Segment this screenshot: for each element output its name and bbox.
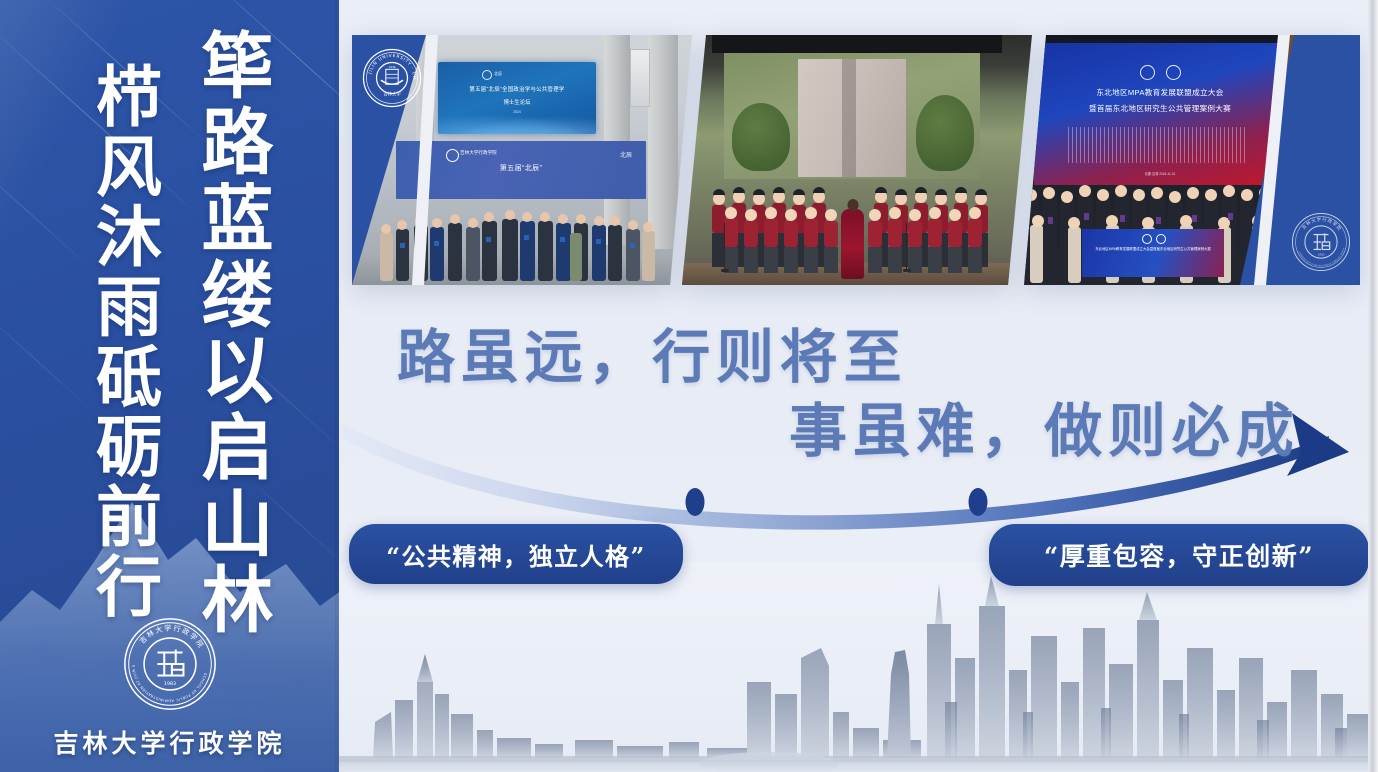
photo-1-screen-line-2: 博士生论坛 [438, 98, 596, 106]
school-seal-watermark-icon: 吉林大学行政学院 SCHOOL OF PUBLIC ADMINISTRATION… [1290, 211, 1352, 273]
photo-3-screen-line-2: 暨首届东北地区研究生公共管理案例大赛 [1034, 103, 1286, 114]
event-photo-strip[interactable]: 北辰 第五届“北辰”全国政治学与公共管理学 博士生论坛 2024 吉林大学行政学… [352, 35, 1360, 285]
mountain-illustration [0, 442, 339, 772]
svg-text:1983: 1983 [163, 681, 175, 687]
calligraphy-column-2: 栉风沐雨砥砺前行 [91, 62, 157, 622]
progress-arrow [339, 410, 1378, 540]
left-panel: 筚路蓝缕以启山林 栉风沐雨砥砺前行 吉林大学行政学院 SCHOOL OF PUB… [0, 0, 339, 772]
photo-1-conference[interactable]: 北辰 第五届“北辰”全国政治学与公共管理学 博士生论坛 2024 吉林大学行政学… [352, 35, 692, 285]
photo-1-stage-banner: 吉林大学行政学院 北辰 第五届“北辰” [396, 141, 646, 199]
photo-1-led-screen: 北辰 第五届“北辰”全国政治学与公共管理学 博士生论坛 2024 [438, 62, 596, 134]
svg-text:1983: 1983 [1317, 253, 1324, 257]
svg-text:1946: 1946 [389, 65, 396, 69]
photo-1-screen-mark: 北辰 [494, 71, 502, 77]
school-seal-icon: 吉林大学行政学院 SCHOOL OF PUBLIC ADMINISTRATION… [122, 616, 218, 712]
photo-1-group [352, 199, 692, 285]
photo-2-choir[interactable] [682, 35, 1032, 285]
poster-root: 筚路蓝缕以启山林 栉风沐雨砥砺前行 吉林大学行政学院 SCHOOL OF PUB… [0, 0, 1378, 772]
photo-2-backdrop [724, 51, 980, 179]
photo-3-screen-sub: 长春·吉林 2024-11-01 [1034, 171, 1286, 176]
photo-3-mpa-conference[interactable]: 东北地区MPA教育发展联盟成立大会 暨首届东北地区研究生公共管理案例大赛 长春·… [1024, 35, 1360, 285]
headline-line-1: 路虽远，行则将至 [397, 310, 907, 394]
city-skyline [339, 562, 1378, 772]
jilin-university-seal-icon: JILIN UNIVERSITY · CHINA 1946 吉林大学 [361, 47, 423, 109]
photo-3-banner: 东北地区MPA教育发展联盟成立大会暨首届东北地区研究生公共管理案例大赛 [1082, 229, 1224, 277]
calligraphy-column-1: 筚路蓝缕以启山林 [195, 28, 267, 639]
photo-3-led-screen: 东北地区MPA教育发展联盟成立大会 暨首届东北地区研究生公共管理案例大赛 长春·… [1034, 43, 1286, 185]
photo-3-banner-text: 东北地区MPA教育发展联盟成立大会暨首届东北地区研究生公共管理案例大赛 [1082, 246, 1224, 251]
institution-name: 吉林大学行政学院 [0, 724, 339, 760]
photo-1-banner-mark: 北辰 [620, 150, 632, 159]
photo-1-screen-line-3: 2024 [438, 110, 596, 114]
photo-3-screen-line-1: 东北地区MPA教育发展联盟成立大会 [1034, 87, 1286, 98]
photo-1-banner-text: 第五届“北辰” [396, 163, 646, 173]
photo-1-banner-logo-text: 吉林大学行政学院 [460, 150, 497, 156]
right-panel: 北辰 第五届“北辰”全国政治学与公共管理学 博士生论坛 2024 吉林大学行政学… [339, 0, 1378, 772]
svg-text:SCHOOL OF PUBLIC ADMINISTRATIO: SCHOOL OF PUBLIC ADMINISTRATION AT JILIN… [1298, 247, 1344, 267]
motto-pill-right[interactable]: “厚重包容，守正创新” [989, 524, 1369, 586]
photo-2-soloist [841, 209, 864, 279]
motto-pill-left[interactable]: “公共精神，独立人格” [349, 524, 683, 584]
photo-1-screen-line-1: 第五届“北辰”全国政治学与公共管理学 [438, 85, 596, 93]
right-panel-edge [1368, 0, 1378, 772]
svg-text:JILIN UNIVERSITY · CHINA: JILIN UNIVERSITY · CHINA [361, 47, 417, 80]
